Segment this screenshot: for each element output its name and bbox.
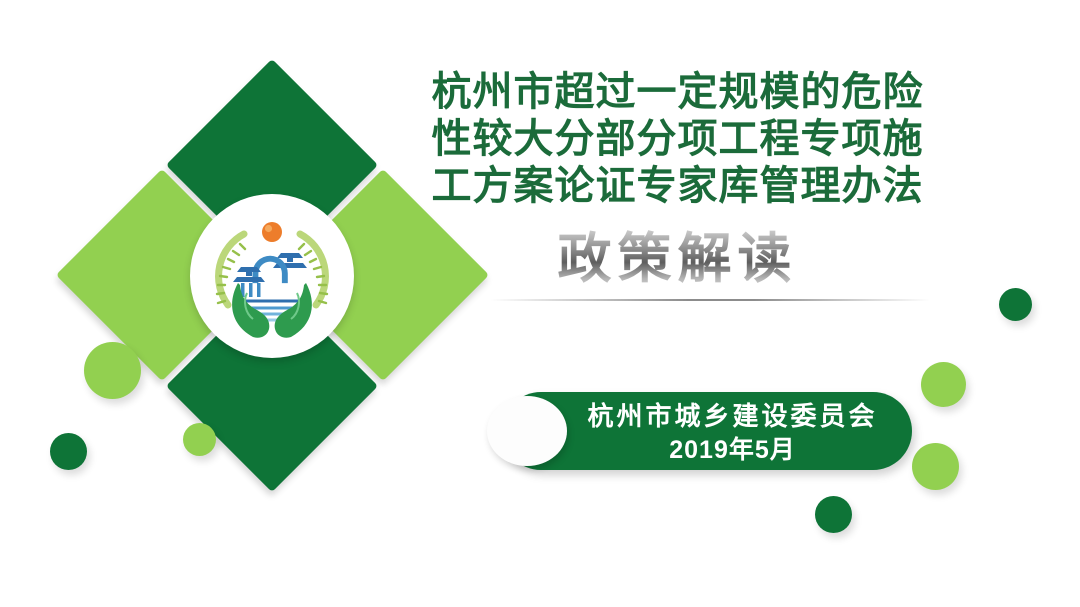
- dot-right-mid-light: [921, 362, 966, 407]
- presentation-slide: 杭州市超过一定规模的危险 性较大分部分项工程专项施 工方案论证专家库管理办法 政…: [0, 0, 1080, 607]
- emblem-logo: [190, 194, 354, 358]
- sun-icon: [262, 222, 282, 242]
- subtitle-divider: [490, 299, 930, 301]
- footer-date: 2019年5月: [560, 434, 905, 466]
- dot-left-small-dark: [50, 433, 87, 470]
- dot-left-large: [84, 342, 141, 399]
- slide-title-line-2: 性较大分部分项工程专项施: [405, 115, 950, 162]
- slide-title-line-3: 工方案论证专家库管理办法: [405, 162, 950, 209]
- dot-left-small-light: [183, 423, 216, 456]
- slide-subtitle: 政策解读: [405, 226, 950, 292]
- dot-right-bottom-dark: [815, 496, 852, 533]
- footer-organization: 杭州市城乡建设委员会: [560, 400, 905, 434]
- dot-right-top-dark: [999, 288, 1032, 321]
- emblem-icon: [197, 201, 347, 351]
- slide-title: 杭州市超过一定规模的危险 性较大分部分项工程专项施 工方案论证专家库管理办法: [405, 68, 950, 209]
- slide-title-line-1: 杭州市超过一定规模的危险: [405, 68, 950, 115]
- footer-pill-knob: [487, 396, 567, 466]
- footer-text-group: 杭州市城乡建设委员会 2019年5月: [560, 400, 905, 466]
- dot-right-low-light: [912, 443, 959, 490]
